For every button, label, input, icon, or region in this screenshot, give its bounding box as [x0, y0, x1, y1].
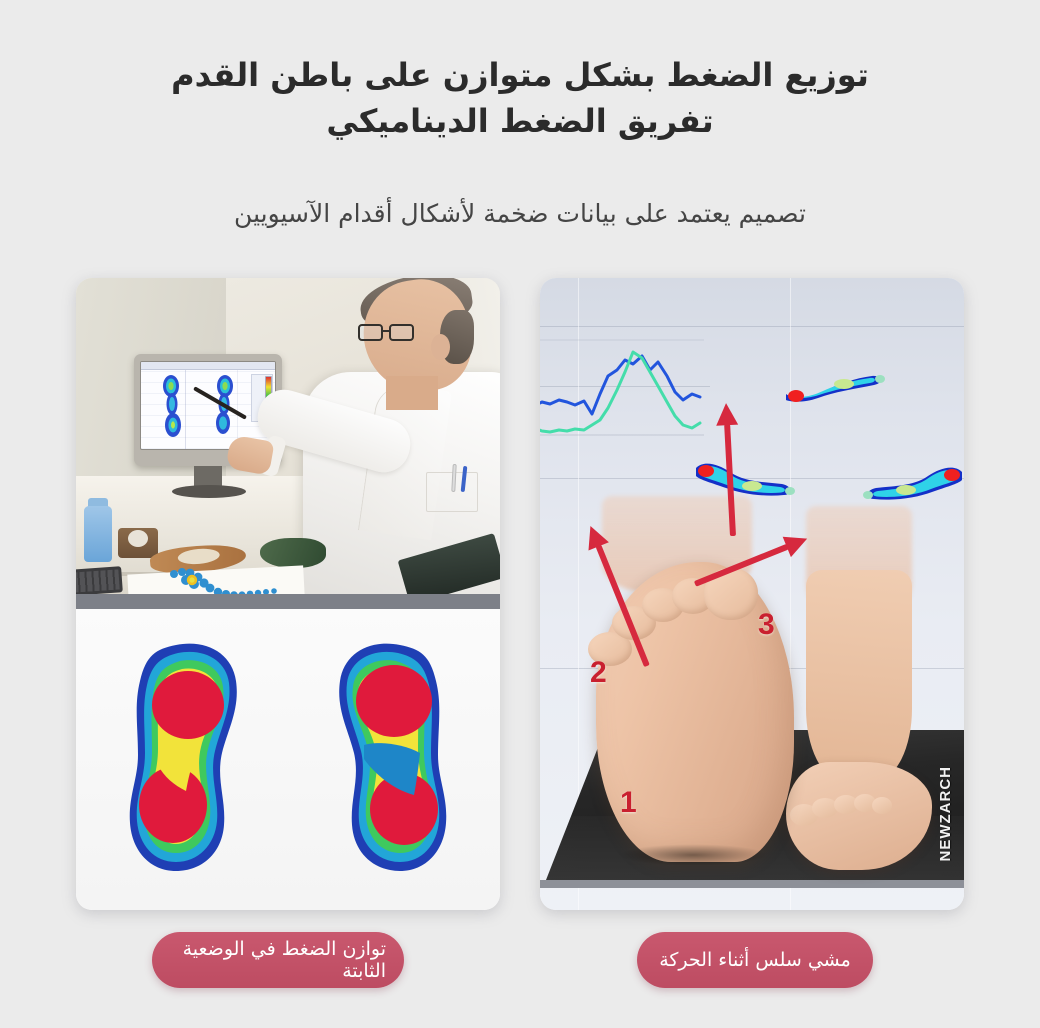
- page-title-line-1: توزيع الضغط بشكل متوازن على باطن القدم: [0, 52, 1040, 98]
- badge-left-label: توازن الضغط في الوضعية الثابتة: [170, 938, 386, 982]
- clinic-photo: [76, 278, 500, 594]
- pressure-line-chart: [544, 330, 704, 440]
- keyboard-object: [76, 566, 123, 594]
- arrow-number-2: 2: [590, 656, 607, 690]
- printed-scan-dots: [166, 568, 296, 594]
- bottle-object: [84, 506, 112, 562]
- heatmap-right-foot: [339, 644, 446, 871]
- badge-right-label: مشي سلس أثناء الحركة: [659, 949, 851, 971]
- footprint-thumbnail: [860, 458, 964, 508]
- page-title-line-2: تفريق الضغط الديناميكي: [0, 98, 1040, 144]
- monitor-screen: [140, 361, 276, 450]
- arrow-number-1: 1: [620, 786, 637, 820]
- page-root: توزيع الضغط بشكل متوازن على باطن القدم ت…: [0, 0, 1040, 1028]
- badge-static-balance[interactable]: توازن الضغط في الوضعية الثابتة: [152, 932, 404, 988]
- static-pressure-card[interactable]: [76, 278, 500, 910]
- rear-foot: [790, 570, 940, 870]
- eyeglasses-icon: [358, 324, 414, 341]
- photo-divider: [76, 594, 500, 609]
- footprint-heatmap-panel: [76, 609, 500, 910]
- badge-smooth-walking[interactable]: مشي سلس أثناء الحركة: [637, 932, 873, 988]
- dynamic-pressure-card[interactable]: NEWZARCH: [540, 278, 964, 910]
- footprint-thumbnail: [780, 366, 888, 416]
- monitor-base: [172, 485, 246, 498]
- arrow-number-3: 3: [758, 608, 775, 642]
- clinician-hand: [225, 434, 274, 475]
- heading-block: توزيع الضغط بشكل متوازن على باطن القدم ت…: [0, 52, 1040, 144]
- page-subtitle: تصميم يعتمد على بيانات ضخمة لأشكال أقدام…: [0, 196, 1040, 232]
- heatmap-left-foot: [130, 644, 237, 871]
- gait-analysis-background: NEWZARCH: [540, 278, 964, 910]
- insole-sample-green: [260, 538, 326, 568]
